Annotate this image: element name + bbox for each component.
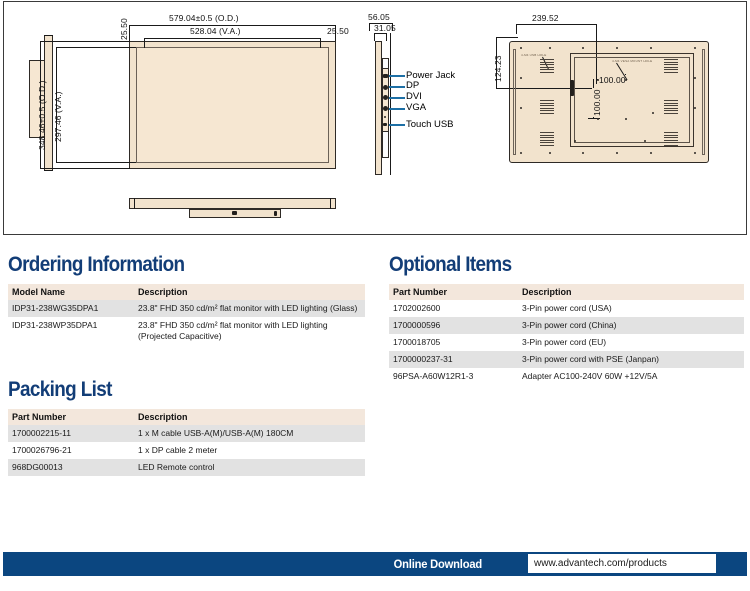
- column-header-description: Description: [134, 284, 365, 300]
- column-header-part-number: Part Number: [8, 409, 134, 425]
- port-label-vga: VGA: [406, 102, 426, 113]
- product-drawing-frame: 579.04±0.5 (O.D.) 528.04 (V.A.) 25.50 25…: [3, 1, 747, 235]
- dim-side-depth-total: 56.05: [368, 12, 390, 22]
- dim-rear-vertical: 124.23: [493, 55, 503, 82]
- ordering-information-table: Model Name Description IDP31-238WG35DPA1…: [8, 284, 365, 345]
- column-header-description: Description: [134, 409, 365, 425]
- rear-side-slot-left: [513, 49, 516, 155]
- cell-description: 1 x DP cable 2 meter: [134, 442, 365, 459]
- dim-front-height-od: 348.46±0.5 (O.D.): [37, 80, 47, 150]
- dim-vesa-vertical: 100.00: [592, 88, 602, 117]
- cell-part-number: 1700000596: [389, 317, 518, 334]
- port-dp: [383, 85, 388, 90]
- vent-grille: [664, 100, 678, 116]
- table-row: 1700026796-21 1 x DP cable 2 meter: [8, 442, 365, 459]
- rear-side-slot-right: [702, 49, 705, 155]
- table-row: IDP31-238WP35DPA1 23.8" FHD 350 cd/m² fl…: [8, 317, 365, 345]
- port-touch-usb-pin: [384, 116, 386, 118]
- port-label-dvi: DVI: [406, 91, 422, 102]
- cell-description: 1 x M cable USB-A(M)/USB-A(M) 180CM: [134, 425, 365, 442]
- cell-description: LED Remote control: [134, 459, 365, 476]
- cell-model-name: IDP31-238WP35DPA1: [8, 317, 134, 345]
- port-dvi: [383, 95, 388, 100]
- vent-grille: [664, 132, 678, 148]
- vent-grille: [540, 59, 554, 75]
- table-row: 1702002600 3-Pin power cord (USA): [389, 300, 744, 317]
- table-row: 1700000237-31 3-Pin power cord with PSE …: [389, 351, 744, 368]
- dim-rear-horizontal: 239.52: [532, 13, 559, 23]
- dim-vesa-horizontal: 100.00: [598, 75, 627, 85]
- table-header-row: Model Name Description: [8, 284, 365, 300]
- cell-part-number: 1702002600: [389, 300, 518, 317]
- dim-bezel-right: 25.50: [327, 26, 349, 36]
- column-header-part-number: Part Number: [389, 284, 518, 300]
- table-row: 1700018705 3-Pin power cord (EU): [389, 334, 744, 351]
- cell-model-name: IDP31-238WG35DPA1: [8, 300, 134, 317]
- dim-side-depth-panel: 31.05: [374, 23, 396, 33]
- dim-front-width-va: 528.04 (V.A.): [190, 26, 241, 36]
- packing-list-title: Packing List: [8, 378, 112, 402]
- ordering-information-title: Ordering Information: [8, 253, 184, 277]
- cell-part-number: 1700018705: [389, 334, 518, 351]
- cell-description: 3-Pin power cord with PSE (Janpan): [518, 351, 744, 368]
- table-row: 1700000596 3-Pin power cord (China): [389, 317, 744, 334]
- table-row: 96PSA-A60W12R1-3 Adapter AC100-240V 60W …: [389, 368, 744, 385]
- footer-url-link[interactable]: www.advantech.com/products: [534, 558, 667, 569]
- cell-part-number: 1700000237-31: [389, 351, 518, 368]
- front-visible-area: [136, 47, 329, 163]
- vent-grille: [540, 100, 554, 116]
- side-view-body: [375, 41, 382, 175]
- table-row: 968DG00013 LED Remote control: [8, 459, 365, 476]
- cell-description: Adapter AC100-240V 60W +12V/5A: [518, 368, 744, 385]
- vent-grille: [664, 59, 678, 75]
- port-touch-usb: [383, 123, 387, 126]
- cell-description: 3-Pin power cord (China): [518, 317, 744, 334]
- cell-description: 3-Pin power cord (USA): [518, 300, 744, 317]
- port-label-touch-usb: Touch USB: [406, 119, 454, 130]
- dim-front-width-od: 579.04±0.5 (O.D.): [169, 13, 239, 23]
- rear-connector-recess: [570, 80, 574, 96]
- column-header-model-name: Model Name: [8, 284, 134, 300]
- dim-front-height-va: 297.46 (V.A.): [53, 91, 63, 142]
- vent-grille: [540, 132, 554, 148]
- port-power-jack: [383, 74, 388, 78]
- table-row: IDP31-238WG35DPA1 23.8" FHD 350 cd/m² fl…: [8, 300, 365, 317]
- online-download-label: Online Download: [394, 557, 482, 571]
- table-header-row: Part Number Description: [8, 409, 365, 425]
- dim-bezel-top: 25.50: [119, 18, 129, 40]
- table-row: 1700002215-11 1 x M cable USB-A(M)/USB-A…: [8, 425, 365, 442]
- column-header-description: Description: [518, 284, 744, 300]
- cell-description: 23.8" FHD 350 cd/m² flat monitor with LE…: [134, 317, 365, 345]
- port-label-dp: DP: [406, 80, 419, 91]
- cell-part-number: 968DG00013: [8, 459, 134, 476]
- cell-description: 3-Pin power cord (EU): [518, 334, 744, 351]
- optional-items-title: Optional Items: [389, 253, 511, 277]
- table-header-row: Part Number Description: [389, 284, 744, 300]
- packing-list-table: Part Number Description 1700002215-11 1 …: [8, 409, 365, 476]
- port-vga: [383, 106, 388, 111]
- optional-items-table: Part Number Description 1702002600 3-Pin…: [389, 284, 744, 384]
- cell-part-number: 96PSA-A60W12R1-3: [389, 368, 518, 385]
- cell-part-number: 1700002215-11: [8, 425, 134, 442]
- rear-note-vesa-hole: 4-M4 VESA MOUNT HOLE: [612, 59, 652, 63]
- bottom-view-body: [129, 198, 336, 209]
- cell-part-number: 1700026796-21: [8, 442, 134, 459]
- cell-description: 23.8" FHD 350 cd/m² flat monitor with LE…: [134, 300, 365, 317]
